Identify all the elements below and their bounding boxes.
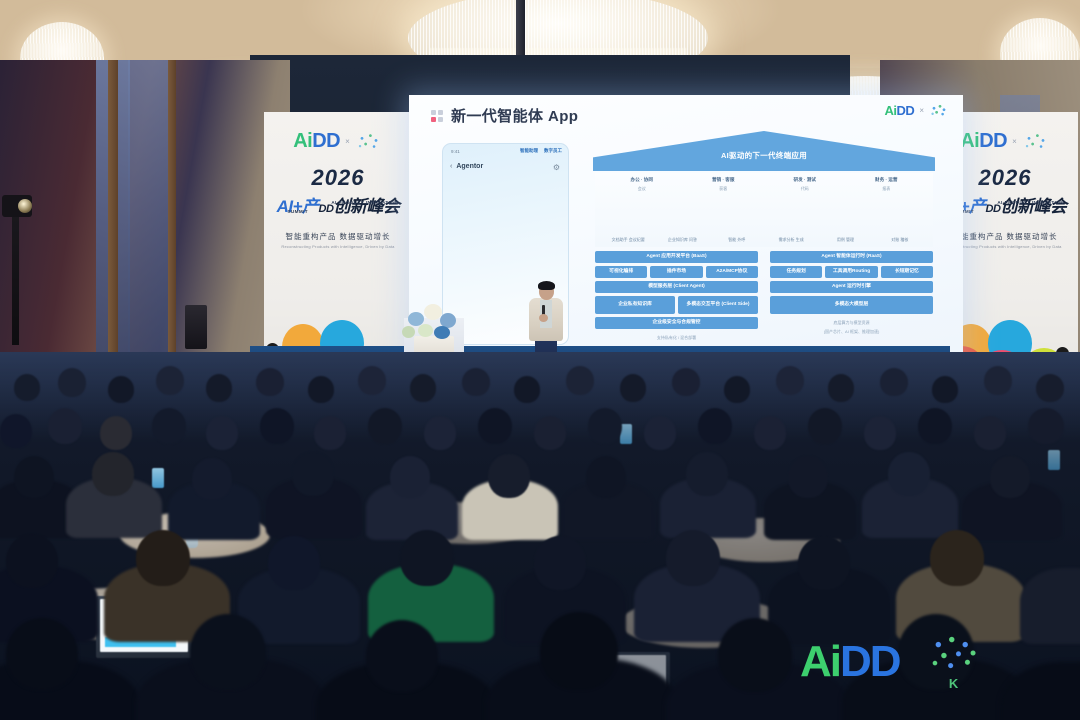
audience-head — [540, 612, 618, 690]
brain-network-icon — [355, 131, 383, 152]
audience-head — [92, 452, 134, 496]
platform-block: Agent 运行时引擎 — [770, 281, 933, 293]
slide-bullet-icon — [431, 110, 443, 122]
audience-head — [424, 416, 456, 450]
platform-block: 模型服务层 (Client Agent) — [595, 281, 758, 293]
phone-nav-row: ‹ Agentor — [450, 163, 483, 170]
audience-head — [724, 376, 750, 403]
phone-app-name: Agentor — [456, 163, 483, 170]
audience-head — [14, 456, 54, 498]
application-tile: 需求分析 生成 — [764, 237, 818, 243]
backdrop-logo: AiDD × — [264, 130, 412, 153]
audience-head — [260, 408, 294, 444]
aidd-logo: AiDD — [960, 130, 1007, 153]
audience-head — [586, 456, 626, 498]
application-column-head: 研发 · 测试 — [764, 177, 846, 183]
platform-note: 支持私有化 / 混合部署 — [595, 335, 758, 341]
audience-head — [672, 368, 700, 396]
flower-petal — [402, 326, 415, 338]
audience-head — [0, 414, 32, 448]
audience-head — [718, 618, 792, 692]
aidd-logo: AiDD — [885, 103, 915, 118]
brain-network-icon — [926, 632, 982, 674]
platform-block: 企业级安全与合规管控 — [595, 317, 758, 329]
architecture-diagram: AI驱动的下一代终端应用 办公 · 协同 会议 营销 · 客服 获客 研发 · … — [581, 131, 947, 357]
platform-block: 多模态交互平台 (Client Side) — [678, 296, 758, 314]
watermark-logo: AiDD K — [800, 632, 982, 691]
capability-chip: A2A/MCP协议 — [706, 266, 758, 278]
audience-head — [880, 368, 908, 396]
application-tile: 对账 稽核 — [873, 237, 927, 243]
application-column: 研发 · 测试 代码 — [764, 177, 846, 243]
audience-head — [588, 408, 622, 444]
projector-mount-pole — [516, 0, 525, 58]
platform-header: Agent 应用开发平台 (BaaS) — [595, 251, 758, 263]
application-tile: 文档助手 会议纪要 — [601, 237, 655, 243]
application-tile: 智能 外呼 — [710, 237, 764, 243]
slide-logo: AiDD × — [885, 103, 949, 118]
capability-chip: 长短期记忆 — [881, 266, 933, 278]
application-column: 办公 · 协同 会议 — [601, 177, 683, 243]
audience-head — [534, 536, 586, 590]
partner-label: K — [949, 676, 958, 691]
brain-network-icon — [929, 103, 949, 118]
audience-head — [798, 536, 850, 590]
diagram-roof-label: AI驱动的下一代终端应用 — [581, 150, 947, 161]
audience-head — [788, 456, 828, 498]
audience-head — [644, 416, 676, 450]
capability-chip: 任务规划 — [770, 266, 822, 278]
application-column-head: 营销 · 客服 — [683, 177, 765, 183]
audience-head — [918, 408, 952, 444]
brain-network-icon — [1022, 131, 1050, 152]
audience-head — [534, 416, 566, 450]
tripod-camera-icon — [0, 195, 34, 235]
audience-shoulders — [1020, 568, 1080, 644]
audience-head — [686, 452, 728, 496]
camera-lens — [18, 199, 32, 213]
backdrop-english-line2: SUMMIT — [287, 209, 308, 214]
audience-head — [888, 452, 930, 496]
audience-head — [206, 416, 238, 450]
audience-head — [864, 416, 896, 450]
audience-head — [368, 408, 402, 444]
audience-head — [1028, 408, 1064, 444]
capability-chip: 插件市场 — [650, 266, 702, 278]
audience-head — [292, 452, 334, 496]
application-tile: 企业知识库 问答 — [655, 237, 709, 243]
chevron-left-icon: ‹ — [450, 163, 452, 170]
audience-head — [974, 416, 1006, 450]
application-tile: 用例 管理 — [818, 237, 872, 243]
platform-block: 多模态大模型层 — [770, 296, 933, 314]
raised-phone-icon — [152, 468, 164, 488]
audience-head — [100, 416, 132, 450]
audience-head — [990, 456, 1030, 498]
audience-head — [358, 366, 386, 395]
conference-photo: AiDD × 2026 AI-PRODUCT INNOVATION SUMMIT… — [0, 0, 1080, 720]
audience-head — [478, 408, 512, 444]
audience-head — [6, 534, 58, 588]
presentation-screen: 新一代智能体 App AiDD × 9:41 智能助理 数字员工 ‹ Agent… — [409, 95, 963, 365]
backdrop-tagline-en: Reconstructing Products with Intelligenc… — [264, 244, 412, 249]
audience-head — [108, 376, 134, 403]
platform-note-line2: (国产芯片、AI 框架、推理加速) — [770, 329, 933, 335]
audience-head — [566, 366, 594, 395]
audience-head — [314, 416, 346, 450]
presenter-hand — [539, 314, 548, 322]
phone-tab-left: 智能助理 — [520, 148, 538, 154]
audience-shoulders — [1000, 662, 1080, 720]
platform-header: Agent 智能体运行时 (RaaS) — [770, 251, 933, 263]
application-column-sub: 报表 — [846, 186, 928, 192]
application-column-sub: 会议 — [601, 186, 683, 192]
audience-head — [514, 376, 540, 403]
application-column: 营销 · 客服 获客 — [683, 177, 765, 243]
audience-head — [400, 530, 454, 586]
audience-head — [206, 374, 232, 402]
audience-head — [136, 530, 190, 586]
audience-head — [152, 408, 186, 444]
wall-column — [108, 60, 118, 360]
phone-tab-right: 数字员工 — [544, 148, 562, 154]
gear-icon: ⚙ — [553, 163, 560, 172]
flower-petal — [418, 324, 433, 337]
capability-chip: 可视化编排 — [595, 266, 647, 278]
partner-watermark: K — [926, 632, 982, 691]
logo-separator: × — [919, 106, 924, 115]
audience-head — [930, 530, 984, 586]
audience-head — [308, 376, 334, 403]
audience-head — [58, 368, 86, 397]
application-column-sub: 获客 — [683, 186, 765, 192]
flower-petal — [434, 326, 450, 339]
audience-head — [462, 368, 490, 396]
application-column-sub: 代码 — [764, 186, 846, 192]
audience-head — [620, 374, 646, 402]
audience-head — [808, 408, 842, 444]
backdrop-tagline: 智能重构产品 数据驱动增长 — [264, 231, 412, 242]
audience-head — [6, 618, 78, 690]
platform-column-left: Agent 应用开发平台 (BaaS) 可视化编排 插件市场 A2A/MCP协议… — [595, 251, 758, 341]
platform-block-row: 企业私有知识库 多模态交互平台 (Client Side) — [595, 296, 758, 314]
platform-note-line1: 底层算力与模型资源 — [770, 320, 933, 326]
audience-head — [156, 366, 184, 395]
audience-head — [1036, 374, 1064, 402]
audience-head — [366, 620, 438, 692]
phone-tab-row: 智能助理 数字员工 — [520, 148, 562, 154]
application-column-grid: 办公 · 协同 会议 营销 · 客服 获客 研发 · 测试 代码 财务 · 运营… — [601, 177, 927, 243]
audience-head — [488, 454, 530, 498]
audience-head — [698, 408, 732, 444]
audience-head — [828, 374, 854, 402]
presenter-hair — [538, 281, 555, 290]
audience-head — [666, 530, 720, 586]
application-tile-row: 文档助手 会议纪要 企业知识库 问答 智能 外呼 需求分析 生成 用例 管理 对… — [601, 237, 927, 243]
logo-separator: × — [1012, 137, 1017, 146]
backdrop-year: 2026 — [264, 165, 412, 191]
loudspeaker-icon — [185, 305, 207, 349]
capability-chip: 工具调用Routing — [825, 266, 877, 278]
platform-capability-row: 任务规划 工具调用Routing 长短期记忆 — [770, 266, 933, 278]
platform-capability-row: 可视化编排 插件市场 A2A/MCP协议 — [595, 266, 758, 278]
application-column: 财务 · 运营 报表 — [846, 177, 928, 243]
wall-column — [168, 60, 176, 360]
audience-head — [192, 458, 232, 500]
platform-column-right: Agent 智能体运行时 (RaaS) 任务规划 工具调用Routing 长短期… — [770, 251, 933, 341]
audience-head — [410, 374, 436, 402]
application-column-head: 办公 · 协同 — [601, 177, 683, 183]
diagram-application-tier: 办公 · 协同 会议 营销 · 客服 获客 研发 · 测试 代码 财务 · 运营… — [595, 173, 933, 247]
platform-columns: Agent 应用开发平台 (BaaS) 可视化编排 插件市场 A2A/MCP协议… — [595, 251, 933, 341]
audience-head — [932, 376, 958, 403]
aidd-logo: AiDD — [293, 130, 340, 153]
slide-header: 新一代智能体 App — [431, 105, 578, 126]
audience-head — [390, 456, 430, 498]
audience-head — [48, 408, 82, 444]
tripod-leg — [12, 215, 19, 345]
audience-head — [984, 366, 1012, 395]
logo-separator: × — [345, 137, 350, 146]
phone-status-time: 9:41 — [451, 149, 460, 154]
audience-head — [190, 614, 266, 690]
application-column-head: 财务 · 运营 — [846, 177, 928, 183]
slide-title: 新一代智能体 App — [451, 105, 578, 126]
audience-head — [14, 374, 40, 401]
backdrop-banner-left: AiDD × 2026 AI-PRODUCT INNOVATION SUMMIT… — [264, 112, 412, 374]
backdrop-english-line1: AI-PRODUCT INNOVATION — [997, 200, 1064, 205]
audience-head — [754, 416, 786, 450]
backdrop-english-line1: AI-PRODUCT INNOVATION — [331, 200, 398, 205]
audience-head — [268, 536, 320, 590]
platform-block: 企业私有知识库 — [595, 296, 675, 314]
aidd-watermark: AiDD — [800, 640, 900, 684]
audience-head — [776, 366, 804, 395]
audience-head — [256, 368, 284, 396]
raised-phone-icon — [1048, 450, 1060, 470]
